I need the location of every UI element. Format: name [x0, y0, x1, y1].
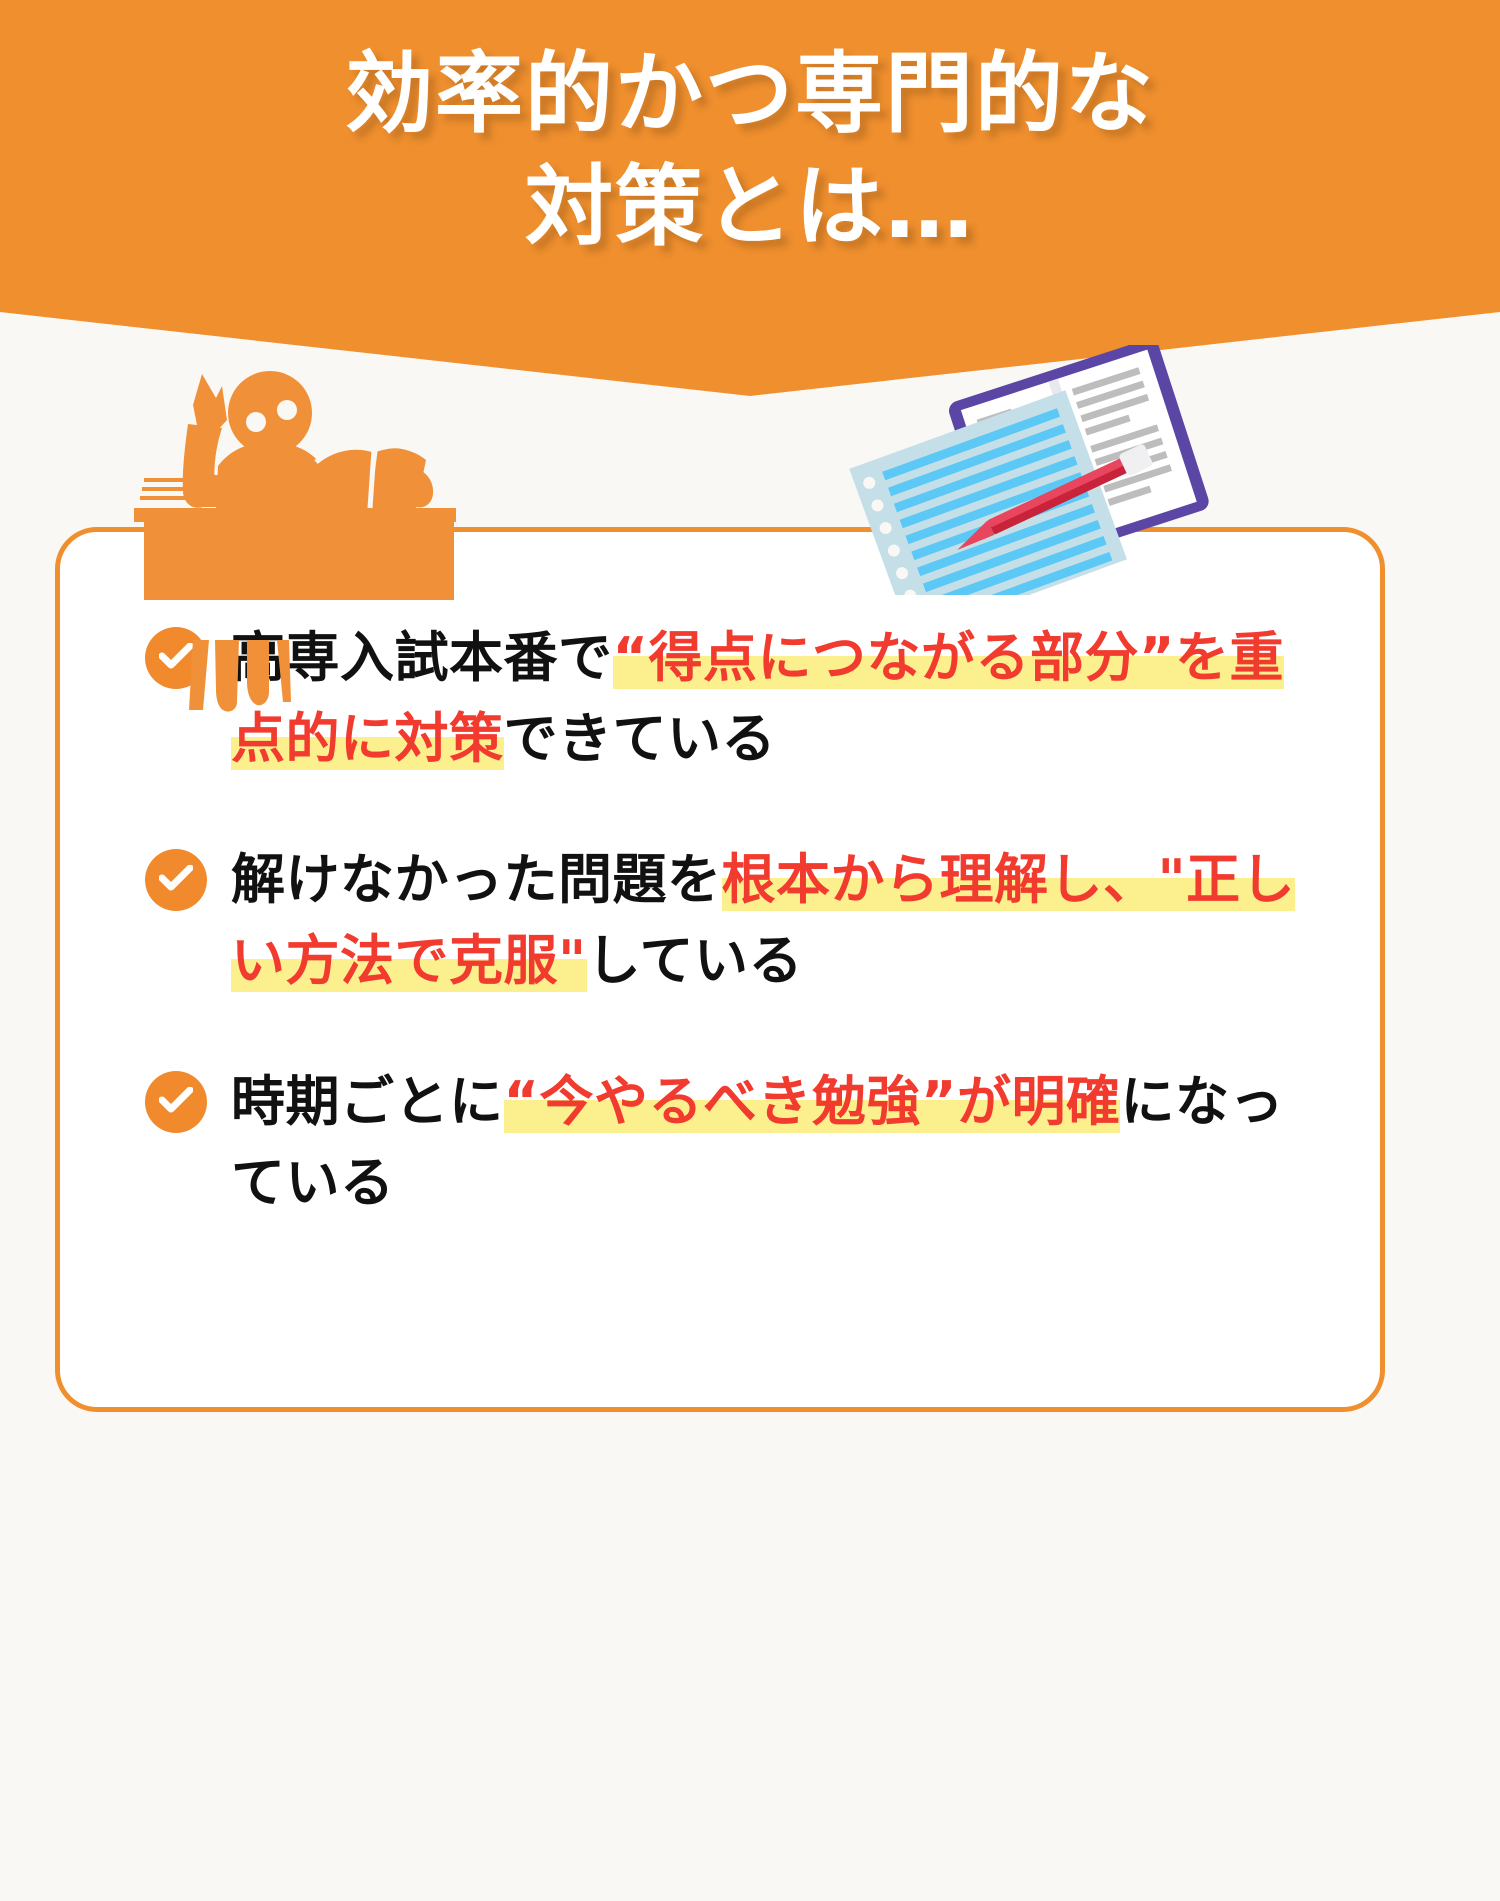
desk-legs-illustration — [185, 640, 315, 715]
check-circle-icon — [145, 849, 207, 911]
notebook-and-book-illustration — [835, 345, 1210, 595]
notebook-book-pen-icon — [835, 345, 1210, 595]
page-title: 効率的かつ専門的な 対策とは… — [0, 38, 1500, 263]
checklist: 高専入試本番で“得点につながる部分”を重点的に対策できている 解けなかった問題を… — [145, 617, 1320, 1223]
list-item-text: 時期ごとに“今やるべき勉強”が明確になっている — [231, 1061, 1320, 1223]
segment-plain-tail: できている — [504, 707, 777, 770]
student-at-desk-illustration — [130, 340, 460, 600]
segment-plain: 解けなかった問題を — [231, 848, 722, 911]
segment-plain-tail: している — [587, 929, 803, 992]
list-item: 解けなかった問題を根本から理解し、"正しい方法で克服"している — [145, 839, 1320, 1001]
check-circle-icon — [145, 1071, 207, 1133]
list-item: 高専入試本番で“得点につながる部分”を重点的に対策できている — [145, 617, 1320, 779]
segment-highlight: “今やるべき勉強”が明確 — [504, 1070, 1121, 1133]
list-item-text: 解けなかった問題を根本から理解し、"正しい方法で克服"している — [231, 839, 1320, 1001]
list-item-text: 高専入試本番で“得点につながる部分”を重点的に対策できている — [231, 617, 1320, 779]
segment-plain: 時期ごとに — [231, 1070, 504, 1133]
student-at-desk-icon — [130, 340, 460, 600]
list-item: 時期ごとに“今やるべき勉強”が明確になっている — [145, 1061, 1320, 1223]
